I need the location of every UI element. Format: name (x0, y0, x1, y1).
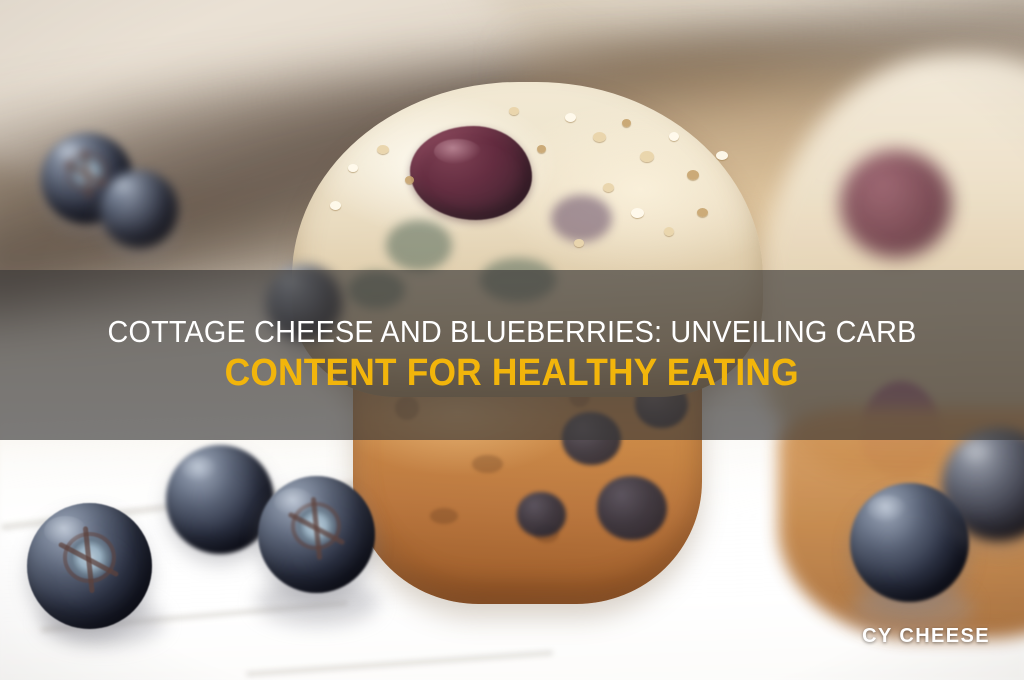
berry-highlight (54, 142, 85, 164)
streusel-crumb (603, 183, 614, 192)
berry-bleed (386, 220, 452, 270)
title-line-2: CONTENT FOR HEALTHY EATING (225, 354, 799, 394)
streusel-crumb (640, 151, 654, 162)
streusel-crumb (509, 107, 519, 115)
streusel-crumb (348, 164, 358, 172)
streusel-crumb (687, 170, 699, 180)
berry-highlight (867, 495, 907, 524)
embedded-berry (517, 492, 566, 537)
streusel-crumb (565, 113, 576, 122)
streusel-crumb (537, 145, 546, 153)
berry-highlight (44, 516, 86, 546)
streusel-crumb (330, 201, 341, 210)
blueberry (258, 476, 375, 593)
hero-blueberry (410, 126, 532, 221)
berry-highlight (958, 440, 996, 467)
crumb-speck (472, 455, 503, 474)
streusel-crumb (664, 227, 674, 236)
crumb-speck (430, 508, 458, 524)
berry-bleed (551, 195, 612, 242)
screenshot-canvas: COTTAGE CHEESE AND BLUEBERRIES: UNVEILIN… (0, 0, 1024, 680)
streusel-crumb (377, 145, 389, 154)
blueberry (100, 170, 178, 248)
title-banner: COTTAGE CHEESE AND BLUEBERRIES: UNVEILIN… (0, 270, 1024, 440)
site-watermark: CY CHEESE (862, 625, 990, 648)
background-muffin-berry (840, 150, 953, 259)
title-line-1: COTTAGE CHEESE AND BLUEBERRIES: UNVEILIN… (107, 316, 916, 349)
streusel-crumb (697, 208, 708, 217)
embedded-berry (597, 476, 667, 540)
streusel-crumb (716, 151, 728, 160)
streusel-crumb (622, 119, 631, 127)
streusel-crumb (574, 239, 584, 247)
streusel-crumb (631, 208, 644, 218)
streusel-crumb (593, 132, 606, 142)
streusel-crumb (669, 132, 679, 141)
berry-highlight (274, 488, 314, 516)
berry-highlight (111, 178, 137, 197)
blueberry (27, 503, 152, 629)
